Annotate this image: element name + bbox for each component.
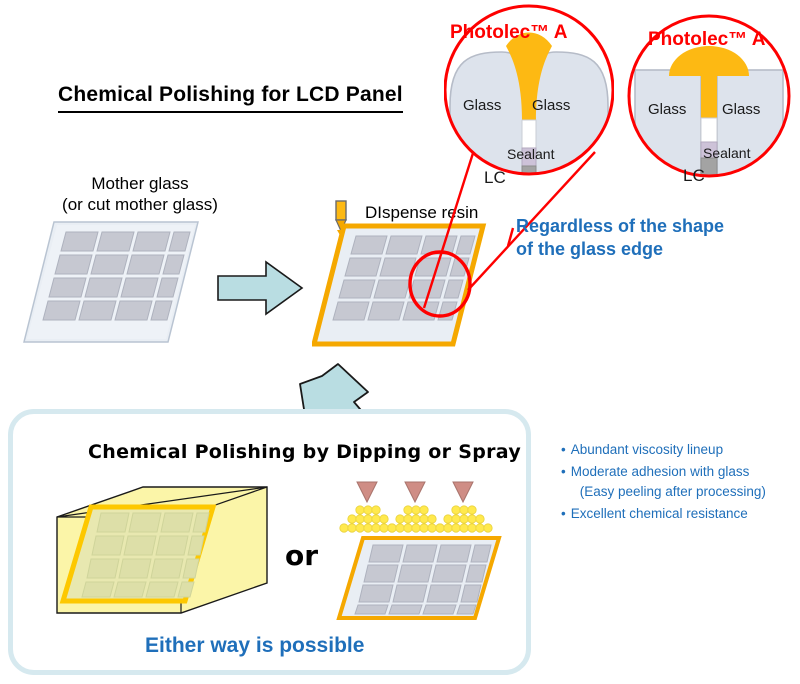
list-item-text: Moderate adhesion with glass — [571, 464, 750, 479]
bullet-icon: • — [561, 440, 566, 460]
list-item-text: Abundant viscosity lineup — [571, 440, 723, 460]
spray-target-panel — [335, 534, 503, 624]
glass-label-left-2: Glass — [648, 101, 686, 118]
process-arrow-right — [216, 258, 306, 318]
page-title: Chemical Polishing for LCD Panel — [58, 83, 403, 113]
features-list: • Abundant viscosity lineup • Moderate a… — [561, 440, 797, 526]
sealant-label-2: Sealant — [703, 145, 750, 161]
photolec-label-right: Photolec™ A — [648, 29, 766, 51]
list-item: • Moderate adhesion with glass (Easy pee… — [561, 462, 797, 502]
spray-nozzles — [325, 480, 505, 542]
glass-label-right-2: Glass — [722, 101, 760, 118]
bullet-icon: • — [561, 504, 566, 524]
either-way-text: Either way is possible — [145, 634, 364, 658]
list-item: • Abundant viscosity lineup — [561, 440, 797, 460]
list-item: • Excellent chemical resistance — [561, 504, 797, 524]
glass-label-left-1: Glass — [463, 97, 501, 114]
mother-glass-label-line1: Mother glass — [50, 173, 230, 194]
regardless-callout-text: Regardless of the shape of the glass edg… — [516, 215, 724, 261]
or-label: or — [285, 539, 318, 572]
dipping-tank — [55, 485, 270, 615]
regardless-line-2: of the glass edge — [516, 238, 724, 261]
mother-glass-label-line2: (or cut mother glass) — [50, 194, 230, 215]
regardless-line-1: Regardless of the shape — [516, 215, 724, 238]
photolec-label-left: Photolec™ A — [450, 22, 568, 44]
glass-label-right-1: Glass — [532, 97, 570, 114]
mother-glass-panel — [22, 218, 202, 348]
bullet-icon: • — [561, 462, 566, 502]
lc-label-1: LC — [484, 168, 506, 188]
chemical-polishing-heading: Chemical Polishing by Dipping or Spray — [88, 441, 521, 463]
lc-label-2: LC — [683, 166, 705, 186]
mother-glass-label: Mother glass (or cut mother glass) — [50, 173, 230, 215]
list-item-text: Excellent chemical resistance — [571, 504, 748, 524]
sealant-label-1: Sealant — [507, 146, 554, 162]
list-item-text-wrap: Moderate adhesion with glass (Easy peeli… — [571, 462, 766, 502]
list-item-subtext: (Easy peeling after processing) — [571, 482, 766, 502]
